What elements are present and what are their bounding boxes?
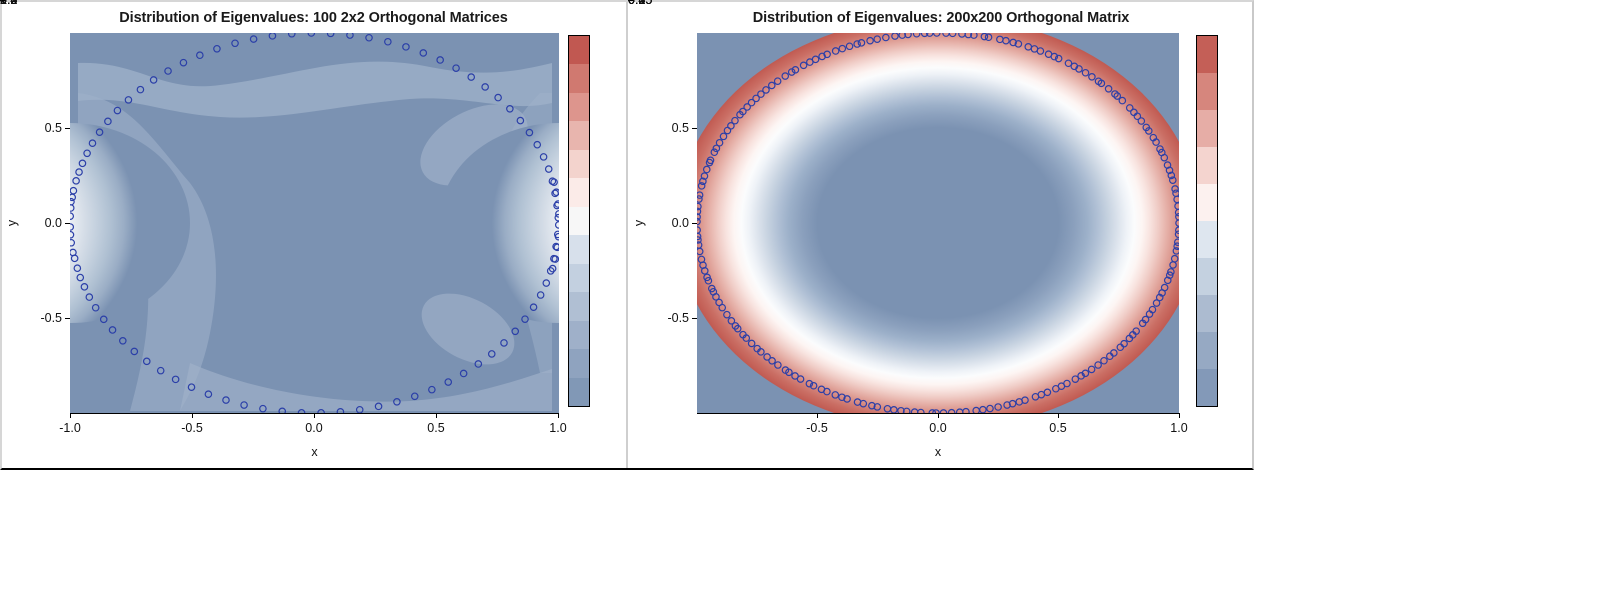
scatter-point: [131, 348, 137, 354]
scatter-point: [839, 45, 845, 51]
scatter-point: [697, 196, 702, 202]
colorbar-band: [1197, 295, 1217, 332]
x-tick-left-4: [558, 413, 559, 418]
y-tick-label-left-2: -0.5: [18, 311, 62, 325]
colorbar-band: [569, 207, 589, 235]
scatter-point: [824, 388, 830, 394]
scatter-point: [1176, 220, 1179, 226]
scatter-point: [704, 166, 710, 172]
y-tick-left-1: [65, 223, 70, 224]
scatter-point: [884, 406, 890, 412]
scatter-point: [375, 403, 381, 409]
scatter-point: [105, 118, 111, 124]
scatter-point: [70, 240, 74, 246]
colorbar-band: [569, 36, 589, 64]
scatter-point: [241, 402, 247, 408]
x-tick-label-left-0: -1.0: [59, 421, 81, 435]
colorbar-band: [569, 235, 589, 263]
scatter-point: [412, 393, 418, 399]
scatter-point: [724, 127, 730, 133]
scatter-point: [385, 39, 391, 45]
scatter-point: [997, 36, 1003, 42]
colorbar-left: [568, 35, 590, 407]
scatter-point: [1175, 203, 1179, 209]
scatter-point: [711, 149, 717, 155]
x-tick-label-right-3: 1.0: [1170, 421, 1187, 435]
scatter-point: [223, 397, 229, 403]
x-tick-right-3: [1179, 413, 1180, 418]
x-tick-label-left-1: -0.5: [181, 421, 203, 435]
scatter-point: [158, 367, 164, 373]
scatter-point: [832, 48, 838, 54]
scatter-point: [769, 358, 775, 364]
scatter-point: [702, 268, 708, 274]
y-tick-label-right-1: 0.0: [645, 216, 689, 230]
y-tick-label-right-0: 0.5: [645, 121, 689, 135]
scatter-point: [543, 280, 549, 286]
scatter-markers-right: [697, 33, 1179, 413]
colorbar-band: [569, 93, 589, 121]
scatter-point: [289, 33, 295, 37]
scatter-point: [74, 265, 80, 271]
scatter-point: [489, 351, 495, 357]
scatter-point: [555, 233, 559, 239]
scatter-point: [860, 400, 866, 406]
scatter-point: [1175, 239, 1179, 245]
scatter-point: [1045, 51, 1051, 57]
colorbar-band: [1197, 369, 1217, 406]
scatter-point: [697, 248, 703, 254]
colorbar-band: [1197, 258, 1217, 295]
scatter-point: [724, 311, 730, 317]
scatter-point: [114, 107, 120, 113]
scatter-point: [720, 133, 726, 139]
x-tick-left-1: [192, 413, 193, 418]
scatter-point: [468, 74, 474, 80]
scatter-point: [445, 379, 451, 385]
scatter-point: [719, 304, 725, 310]
scatter-point: [706, 159, 712, 165]
scatter-point: [1127, 105, 1133, 111]
scatter-point: [165, 68, 171, 74]
scatter-point: [1161, 284, 1167, 290]
scatter-point: [81, 284, 87, 290]
scatter-point: [512, 328, 518, 334]
scatter-point: [150, 77, 156, 83]
scatter-point: [475, 361, 481, 367]
y-tick-left-2: [65, 318, 70, 319]
scatter-point: [1022, 397, 1028, 403]
x-axis-label-right: x: [697, 445, 1179, 459]
scatter-point: [92, 305, 98, 311]
scatter-point: [71, 255, 77, 261]
scatter-point: [501, 340, 507, 346]
scatter-point: [1003, 38, 1009, 44]
scatter-point: [109, 327, 115, 333]
scatter-point: [858, 40, 864, 46]
scatter-point: [1044, 389, 1050, 395]
scatter-point: [197, 52, 203, 58]
y-tick-left-0: [65, 128, 70, 129]
scatter-point: [697, 218, 700, 224]
scatter-point: [774, 78, 780, 84]
scatter-point: [1031, 46, 1037, 52]
colorbar-right: [1196, 35, 1218, 407]
scatter-point: [205, 391, 211, 397]
scatter-point: [70, 232, 74, 238]
scatter-point: [420, 50, 426, 56]
colorbar-band: [569, 64, 589, 92]
scatter-point: [84, 150, 90, 156]
plot-area-left: [70, 33, 559, 413]
x-tick-label-left-2: 0.0: [305, 421, 322, 435]
scatter-point: [713, 145, 719, 151]
scatter-point: [807, 59, 813, 65]
scatter-point: [1172, 256, 1178, 262]
scatter-point: [79, 160, 85, 166]
scatter-point: [70, 224, 73, 230]
scatter-point: [77, 274, 83, 280]
scatter-point: [1088, 366, 1094, 372]
scatter-point: [846, 43, 852, 49]
scatter-point: [1065, 60, 1071, 66]
scatter-point: [832, 392, 838, 398]
x-tick-label-left-3: 0.5: [427, 421, 444, 435]
scatter-point: [1175, 209, 1179, 215]
panel-left-title: Distribution of Eigenvalues: 100 2x2 Ort…: [0, 10, 627, 26]
scatter-point: [232, 40, 238, 46]
y-tick-right-2: [692, 318, 697, 319]
x-tick-left-2: [314, 413, 315, 418]
x-tick-left-0: [70, 413, 71, 418]
scatter-point: [797, 376, 803, 382]
scatter-point: [70, 213, 73, 219]
scatter-point: [73, 178, 79, 184]
scatter-point: [546, 166, 552, 172]
y-axis-label-left: y: [5, 203, 19, 243]
x-tick-right-0: [817, 413, 818, 418]
x-axis-label-left: x: [70, 445, 559, 459]
scatter-point: [70, 205, 74, 211]
plot-area-right: [697, 33, 1179, 413]
scatter-point: [1089, 74, 1095, 80]
x-tick-label-right-1: 0.0: [929, 421, 946, 435]
colorbar-band: [569, 349, 589, 377]
y-tick-label-left-0: 0.5: [18, 121, 62, 135]
scatter-point: [530, 304, 536, 310]
x-tick-label-left-4: 1.0: [549, 421, 566, 435]
scatter-point: [96, 129, 102, 135]
scatter-point: [1172, 186, 1178, 192]
scatter-point: [934, 33, 940, 36]
scatter-point: [1095, 362, 1101, 368]
colorbar-tick-label: 0: [628, 0, 635, 7]
colorbar-band: [1197, 147, 1217, 184]
scatter-point: [172, 376, 178, 382]
scatter-point: [697, 227, 700, 233]
scatter-point: [556, 211, 559, 217]
scatter-point: [1174, 196, 1179, 202]
scatter-point: [495, 94, 501, 100]
y-tick-right-1: [692, 223, 697, 224]
scatter-point: [269, 33, 275, 39]
scatter-point: [89, 140, 95, 146]
scatter-point: [1105, 86, 1111, 92]
colorbar-band: [1197, 73, 1217, 110]
scatter-point: [556, 222, 559, 228]
scatter-point: [144, 358, 150, 364]
scatter-point: [1101, 358, 1107, 364]
scatter-point: [867, 38, 873, 44]
scatter-point: [125, 97, 131, 103]
colorbar-band: [569, 378, 589, 406]
colorbar-band: [569, 264, 589, 292]
scatter-point: [394, 399, 400, 405]
scatter-point: [250, 36, 256, 42]
scatter-point: [883, 34, 889, 40]
colorbar-band: [1197, 110, 1217, 147]
scatter-point: [874, 36, 880, 42]
scatter-point: [943, 33, 949, 36]
scatter-point: [507, 106, 513, 112]
colorbar-tick-label: 0: [0, 0, 7, 7]
scatter-point: [403, 44, 409, 50]
scatter-point: [892, 33, 898, 39]
scatter-point: [308, 33, 314, 36]
scatter-point: [70, 188, 76, 194]
figure-root: Distribution of Eigenvalues: 100 2x2 Ort…: [0, 0, 1600, 600]
x-tick-label-right-2: 0.5: [1049, 421, 1066, 435]
colorbar-band: [569, 178, 589, 206]
scatter-point: [86, 294, 92, 300]
colorbar-band: [1197, 332, 1217, 369]
scatter-point: [460, 370, 466, 376]
x-tick-label-right-0: -0.5: [806, 421, 828, 435]
x-tick-right-1: [938, 413, 939, 418]
panel-right-title: Distribution of Eigenvalues: 200x200 Ort…: [628, 10, 1254, 26]
scatter-point: [357, 407, 363, 413]
scatter-point: [1064, 380, 1070, 386]
scatter-point: [1082, 70, 1088, 76]
scatter-point: [534, 142, 540, 148]
scatter-point: [949, 33, 955, 37]
colorbar-band: [1197, 36, 1217, 73]
scatter-point: [1134, 113, 1140, 119]
scatter-point: [327, 33, 333, 37]
scatter-point: [180, 59, 186, 65]
panel-left: Distribution of Eigenvalues: 100 2x2 Ort…: [0, 0, 627, 470]
scatter-point: [522, 316, 528, 322]
scatter-point: [1025, 44, 1031, 50]
scatter-point: [854, 41, 860, 47]
scatter-point: [76, 169, 82, 175]
scatter-point: [429, 386, 435, 392]
scatter-point: [526, 129, 532, 135]
colorbar-band: [1197, 184, 1217, 221]
scatter-point: [347, 33, 353, 38]
y-axis-label-right: y: [632, 203, 646, 243]
scatter-point: [913, 33, 919, 37]
scatter-point: [366, 35, 372, 41]
scatter-point: [120, 338, 126, 344]
scatter-point: [959, 33, 965, 37]
colorbar-band: [1197, 221, 1217, 258]
colorbar-band: [569, 321, 589, 349]
colorbar-band: [569, 150, 589, 178]
scatter-point: [1121, 341, 1127, 347]
scatter-point: [437, 57, 443, 63]
scatter-point: [981, 33, 987, 39]
scatter-point: [101, 316, 107, 322]
scatter-point: [980, 406, 986, 412]
scatter-point: [260, 405, 266, 411]
scatter-point: [775, 362, 781, 368]
scatter-point: [769, 82, 775, 88]
colorbar-band: [569, 292, 589, 320]
scatter-point: [540, 154, 546, 160]
colorbar-band: [569, 121, 589, 149]
scatter-point: [517, 117, 523, 123]
scatter-point: [1170, 262, 1176, 268]
x-tick-right-2: [1058, 413, 1059, 418]
scatter-point: [987, 405, 993, 411]
scatter-point: [482, 84, 488, 90]
panel-right: Distribution of Eigenvalues: 200x200 Ort…: [628, 0, 1254, 470]
y-tick-right-0: [692, 128, 697, 129]
scatter-point: [995, 404, 1001, 410]
scatter-point: [188, 384, 194, 390]
y-tick-label-right-2: -0.5: [645, 311, 689, 325]
scatter-point: [748, 340, 754, 346]
scatter-markers-left: [70, 33, 559, 413]
scatter-point: [1038, 391, 1044, 397]
x-tick-left-3: [436, 413, 437, 418]
scatter-point: [800, 62, 806, 68]
scatter-point: [782, 73, 788, 79]
scatter-point: [453, 65, 459, 71]
y-tick-label-left-1: 0.0: [18, 216, 62, 230]
scatter-point: [537, 292, 543, 298]
scatter-point: [1176, 227, 1179, 233]
scatter-point: [214, 46, 220, 52]
scatter-point: [1117, 344, 1123, 350]
scatter-point: [137, 86, 143, 92]
